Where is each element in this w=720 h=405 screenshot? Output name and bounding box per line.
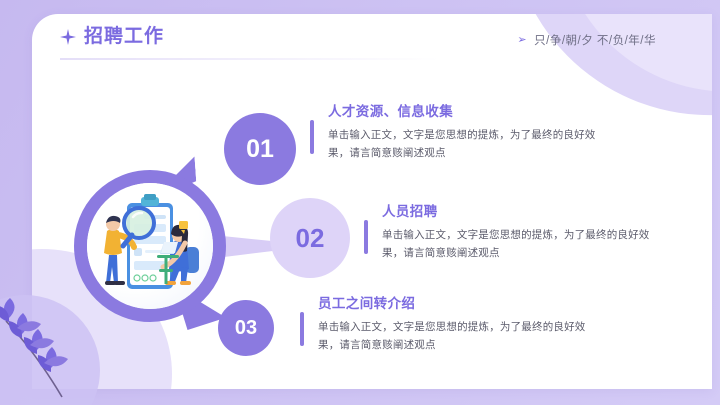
step-number-03[interactable]: 03 — [218, 300, 274, 356]
content-block-03-text: 员工之间转介绍 单击输入正文，文字是您思想的提炼，为了最终的良好效果，请言简意赅… — [318, 292, 590, 355]
slide-header: 招聘工作 ➢ 只/争/朝/夕 不/负/年/华 — [32, 14, 712, 68]
header-slogan-text: 只/争/朝/夕 不/负/年/华 — [534, 32, 656, 48]
sparkle-icon — [60, 29, 76, 45]
slide-root: 招聘工作 ➢ 只/争/朝/夕 不/负/年/华 — [0, 0, 720, 405]
header-slogan: ➢ 只/争/朝/夕 不/负/年/华 — [517, 32, 656, 48]
page-title: 招聘工作 — [84, 27, 164, 46]
header-divider — [60, 58, 440, 60]
accent-bar-01 — [310, 120, 314, 154]
content-title-03: 员工之间转介绍 — [318, 292, 590, 312]
content-block-03: 员工之间转介绍 单击输入正文，文字是您思想的提炼，为了最终的良好效果，请言简意赅… — [300, 292, 590, 355]
accent-bar-03 — [300, 312, 304, 346]
arrow-right-icon: ➢ — [517, 35, 527, 46]
content-body-02: 单击输入正文，文字是您思想的提炼，为了最终的良好效果，请言简意赅阐述观点 — [382, 226, 654, 263]
content-block-02-text: 人员招聘 单击输入正文，文字是您思想的提炼，为了最终的良好效果，请言简意赅阐述观… — [382, 200, 654, 263]
step-number-02[interactable]: 02 — [270, 198, 350, 278]
step-number-01[interactable]: 01 — [224, 113, 296, 185]
content-body-01: 单击输入正文，文字是您思想的提炼，为了最终的良好效果，请言简意赅阐述观点 — [328, 126, 600, 163]
content-block-01: 人才资源、信息收集 单击输入正文，文字是您思想的提炼，为了最终的良好效果，请言简… — [310, 100, 600, 163]
content-title-01: 人才资源、信息收集 — [328, 100, 600, 120]
content-title-02: 人员招聘 — [382, 200, 654, 220]
content-block-02: 人员招聘 单击输入正文，文字是您思想的提炼，为了最终的良好效果，请言简意赅阐述观… — [364, 200, 654, 263]
content-body-03: 单击输入正文，文字是您思想的提炼，为了最终的良好效果，请言简意赅阐述观点 — [318, 318, 590, 355]
hub-illustration-frame — [87, 183, 213, 309]
recruitment-search-illustration — [87, 183, 213, 309]
slide-card: 招聘工作 ➢ 只/争/朝/夕 不/负/年/华 — [32, 14, 712, 389]
header-title-group: 招聘工作 — [60, 27, 164, 46]
content-block-01-text: 人才资源、信息收集 单击输入正文，文字是您思想的提炼，为了最终的良好效果，请言简… — [328, 100, 600, 163]
accent-bar-02 — [364, 220, 368, 254]
